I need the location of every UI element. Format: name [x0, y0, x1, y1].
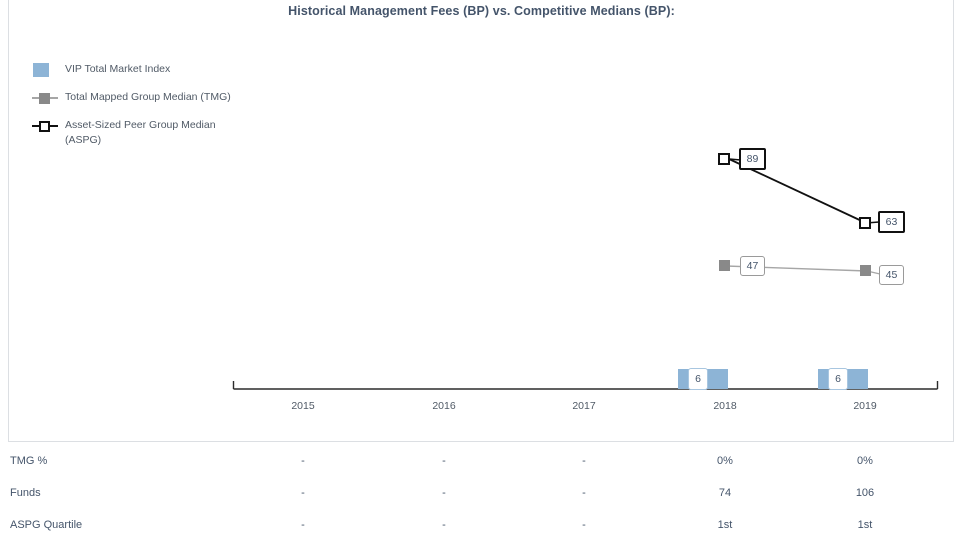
row-label: TMG % [10, 455, 47, 467]
cell-value: - [544, 487, 624, 499]
summary-table: TMG % - - - 0% 0% Funds - - - 74 106 ASP… [0, 452, 963, 500]
aspg-value-label-2019: 63 [878, 211, 905, 233]
cell-value: - [263, 455, 343, 467]
cell-value: - [544, 455, 624, 467]
aspg-point-2019[interactable] [859, 217, 871, 229]
cell-value: - [263, 519, 343, 531]
cell-value: - [544, 519, 624, 531]
table-row: Funds - - - 74 106 [0, 487, 963, 503]
tmg-point-2018[interactable] [719, 260, 730, 271]
cell-value: - [404, 455, 484, 467]
cell-value: 1st [685, 519, 765, 531]
cell-value: 106 [825, 487, 905, 499]
row-label: ASPG Quartile [10, 519, 82, 531]
cell-value: 1st [825, 519, 905, 531]
cell-value: - [404, 487, 484, 499]
x-axis-tick-2017: 2017 [544, 400, 624, 412]
plot-area: 6 6 47 45 89 63 2015 2016 2017 2018 2019 [0, 0, 963, 442]
table-row: ASPG Quartile - - - 1st 1st [0, 519, 963, 535]
aspg-point-2018[interactable] [718, 153, 730, 165]
cell-value: - [404, 519, 484, 531]
aspg-value-label-2018: 89 [739, 148, 766, 170]
tmg-value-label-2019: 45 [879, 265, 904, 285]
tmg-point-2019[interactable] [860, 265, 871, 276]
cell-value: 0% [685, 455, 765, 467]
bar-value-label-2018: 6 [688, 368, 708, 390]
cell-value: 0% [825, 455, 905, 467]
tmg-value-label-2018: 47 [740, 256, 765, 276]
x-axis-tick-2019: 2019 [825, 400, 905, 412]
row-label: Funds [10, 487, 41, 499]
x-axis-tick-2016: 2016 [404, 400, 484, 412]
x-axis-tick-2018: 2018 [685, 400, 765, 412]
table-row: TMG % - - - 0% 0% [0, 455, 963, 471]
x-axis-tick-2015: 2015 [263, 400, 343, 412]
cell-value: - [263, 487, 343, 499]
cell-value: 74 [685, 487, 765, 499]
bar-value-label-2019: 6 [828, 368, 848, 390]
